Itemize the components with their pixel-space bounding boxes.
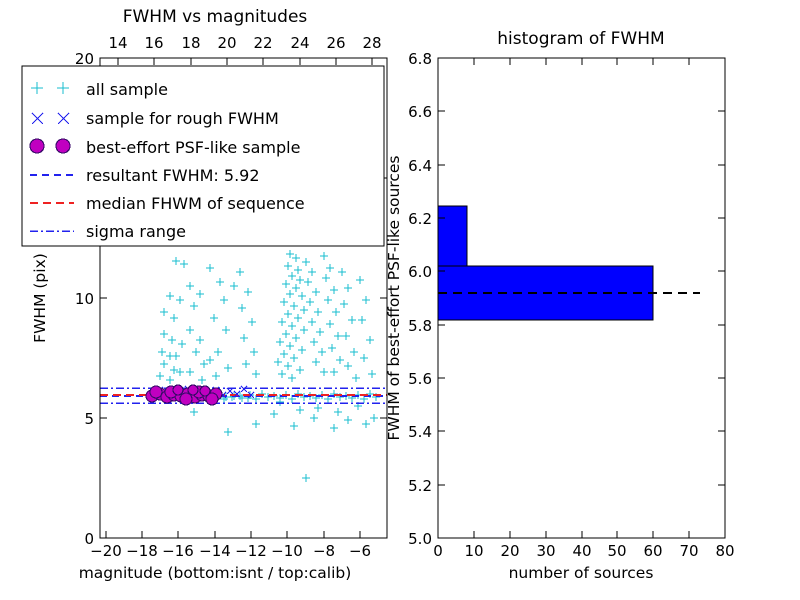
plot-svg: −20 −18 −16 −14 −12 −10 −8 −6 14 16 18 2… [0, 0, 800, 600]
svg-text:5: 5 [84, 410, 94, 428]
svg-text:20: 20 [217, 34, 236, 52]
svg-text:14: 14 [108, 34, 127, 52]
svg-text:80: 80 [715, 542, 734, 560]
svg-text:18: 18 [181, 34, 200, 52]
svg-text:20: 20 [75, 50, 94, 68]
svg-text:−10: −10 [271, 542, 303, 560]
svg-text:−12: −12 [235, 542, 267, 560]
histogram-title: histogram of FWHM [497, 29, 664, 49]
svg-text:−14: −14 [199, 542, 231, 560]
svg-text:−18: −18 [126, 542, 158, 560]
scatter-x-ticks [106, 531, 360, 538]
histogram-top-ticks [438, 58, 725, 65]
histogram-bar-secondary [438, 206, 467, 266]
scatter-x-ticklabels: −20 −18 −16 −14 −12 −10 −8 −6 [90, 542, 371, 560]
svg-text:24: 24 [290, 34, 309, 52]
histogram-right-ticks [718, 58, 725, 538]
histogram-ylabel: FWHM of best-effort PSF-like sources [385, 155, 403, 440]
histogram-panel: 0 10 20 30 40 50 60 70 80 5.0 5.2 5.4 5.… [385, 29, 735, 582]
svg-text:26: 26 [326, 34, 345, 52]
scatter-title: FWHM vs magnitudes [123, 7, 308, 27]
figure-canvas: −20 −18 −16 −14 −12 −10 −8 −6 14 16 18 2… [0, 0, 800, 600]
svg-text:0: 0 [84, 530, 94, 548]
svg-text:10: 10 [464, 542, 483, 560]
scatter-top-ticklabels: 14 16 18 20 22 24 26 28 [108, 34, 381, 52]
svg-text:20: 20 [500, 542, 519, 560]
svg-text:6.2: 6.2 [408, 210, 432, 228]
legend-label-psf-like: best-effort PSF-like sample [86, 138, 300, 157]
svg-text:6.0: 6.0 [408, 263, 432, 281]
svg-text:6.6: 6.6 [408, 103, 432, 121]
scatter-legend: all sample sample for rough FWHM best-ef… [22, 66, 384, 246]
scatter-xlabel: magnitude (bottom:isnt / top:calib) [79, 564, 352, 582]
svg-text:0: 0 [433, 542, 443, 560]
svg-text:16: 16 [144, 34, 163, 52]
svg-text:−8: −8 [313, 542, 335, 560]
svg-text:60: 60 [643, 542, 662, 560]
svg-text:40: 40 [572, 542, 591, 560]
legend-label-all-sample: all sample [86, 80, 168, 99]
svg-text:50: 50 [607, 542, 626, 560]
histogram-x-ticklabels: 0 10 20 30 40 50 60 70 80 [433, 542, 734, 560]
legend-label-sigma-range: sigma range [86, 222, 186, 241]
histogram-x-ticks [438, 531, 725, 538]
svg-text:−20: −20 [90, 542, 122, 560]
legend-label-resultant-fwhm: resultant FWHM: 5.92 [86, 166, 260, 185]
svg-text:10: 10 [75, 290, 94, 308]
svg-text:−16: −16 [162, 542, 194, 560]
histogram-xlabel: number of sources [509, 564, 654, 582]
svg-text:5.8: 5.8 [408, 317, 432, 335]
svg-text:70: 70 [679, 542, 698, 560]
legend-label-rough-fwhm: sample for rough FWHM [86, 109, 279, 128]
legend-label-median-fhwm: median FHWM of sequence [86, 194, 305, 213]
svg-text:5.4: 5.4 [408, 423, 432, 441]
svg-text:6.8: 6.8 [408, 50, 432, 68]
svg-text:30: 30 [536, 542, 555, 560]
svg-text:5.2: 5.2 [408, 477, 432, 495]
svg-text:5.0: 5.0 [408, 530, 432, 548]
svg-text:28: 28 [362, 34, 381, 52]
svg-text:−6: −6 [349, 542, 371, 560]
scatter-ylabel: FWHM (pix) [31, 253, 49, 343]
svg-text:22: 22 [253, 34, 272, 52]
scatter-top-ticks [118, 58, 372, 65]
histogram-y-ticklabels: 5.0 5.2 5.4 5.6 5.8 6.0 6.2 6.4 6.6 6.8 [408, 50, 432, 548]
svg-text:6.4: 6.4 [408, 157, 432, 175]
svg-text:5.6: 5.6 [408, 370, 432, 388]
